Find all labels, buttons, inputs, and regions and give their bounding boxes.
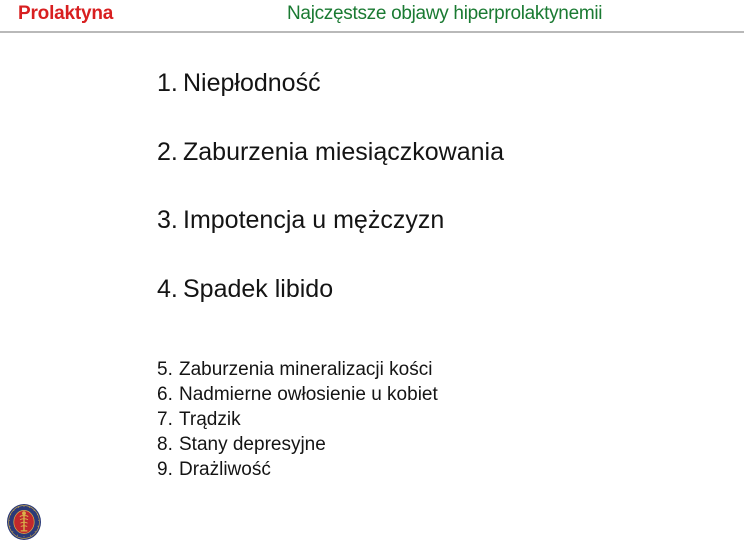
list-item-label: Zaburzenia miesiączkowania bbox=[183, 139, 504, 167]
list-item-label: Nadmierne owłosienie u kobiet bbox=[179, 382, 438, 407]
list-item-label: Drażliwość bbox=[179, 457, 271, 482]
header-brand-title: Prolaktyna bbox=[18, 3, 113, 25]
list-item-label: Spadek libido bbox=[183, 276, 333, 304]
list-item-number: 4. bbox=[157, 276, 183, 304]
slide: Prolaktyna Najczęstsze objawy hiperprola… bbox=[0, 0, 744, 560]
list-item-number: 5. bbox=[157, 357, 179, 382]
list-item: 8. Stany depresyjne bbox=[157, 432, 677, 457]
list-item-number: 1. bbox=[157, 70, 183, 98]
list-item-number: 6. bbox=[157, 382, 179, 407]
slide-header: Prolaktyna Najczęstsze objawy hiperprola… bbox=[0, 0, 744, 32]
list-item: 7. Trądzik bbox=[157, 407, 677, 432]
list-item: 1. Niepłodność bbox=[157, 70, 717, 98]
list-item-label: Stany depresyjne bbox=[179, 432, 326, 457]
list-item: 6. Nadmierne owłosienie u kobiet bbox=[157, 382, 677, 407]
header-divider bbox=[0, 31, 744, 33]
list-item-number: 2. bbox=[157, 139, 183, 167]
list-item-label: Niepłodność bbox=[183, 70, 321, 98]
header-subject-title: Najczęstsze objawy hiperprolaktynemii bbox=[287, 3, 602, 25]
list-item: 3. Impotencja u mężczyzn bbox=[157, 207, 717, 235]
list-item: 5. Zaburzenia mineralizacji kości bbox=[157, 357, 677, 382]
list-item-number: 7. bbox=[157, 407, 179, 432]
list-item: 9. Drażliwość bbox=[157, 457, 677, 482]
list-item: 2. Zaburzenia miesiączkowania bbox=[157, 139, 717, 167]
symptom-list-major: 1. Niepłodność 2. Zaburzenia miesiączkow… bbox=[157, 70, 717, 303]
university-seal-logo bbox=[4, 502, 44, 542]
symptom-list-minor: 5. Zaburzenia mineralizacji kości 6. Nad… bbox=[157, 357, 677, 482]
university-seal-icon bbox=[4, 502, 44, 542]
list-item-number: 8. bbox=[157, 432, 179, 457]
list-item-label: Trądzik bbox=[179, 407, 241, 432]
list-item-label: Zaburzenia mineralizacji kości bbox=[179, 357, 432, 382]
list-item-number: 3. bbox=[157, 207, 183, 235]
list-item: 4. Spadek libido bbox=[157, 276, 717, 304]
list-item-label: Impotencja u mężczyzn bbox=[183, 207, 444, 235]
list-item-number: 9. bbox=[157, 457, 179, 482]
